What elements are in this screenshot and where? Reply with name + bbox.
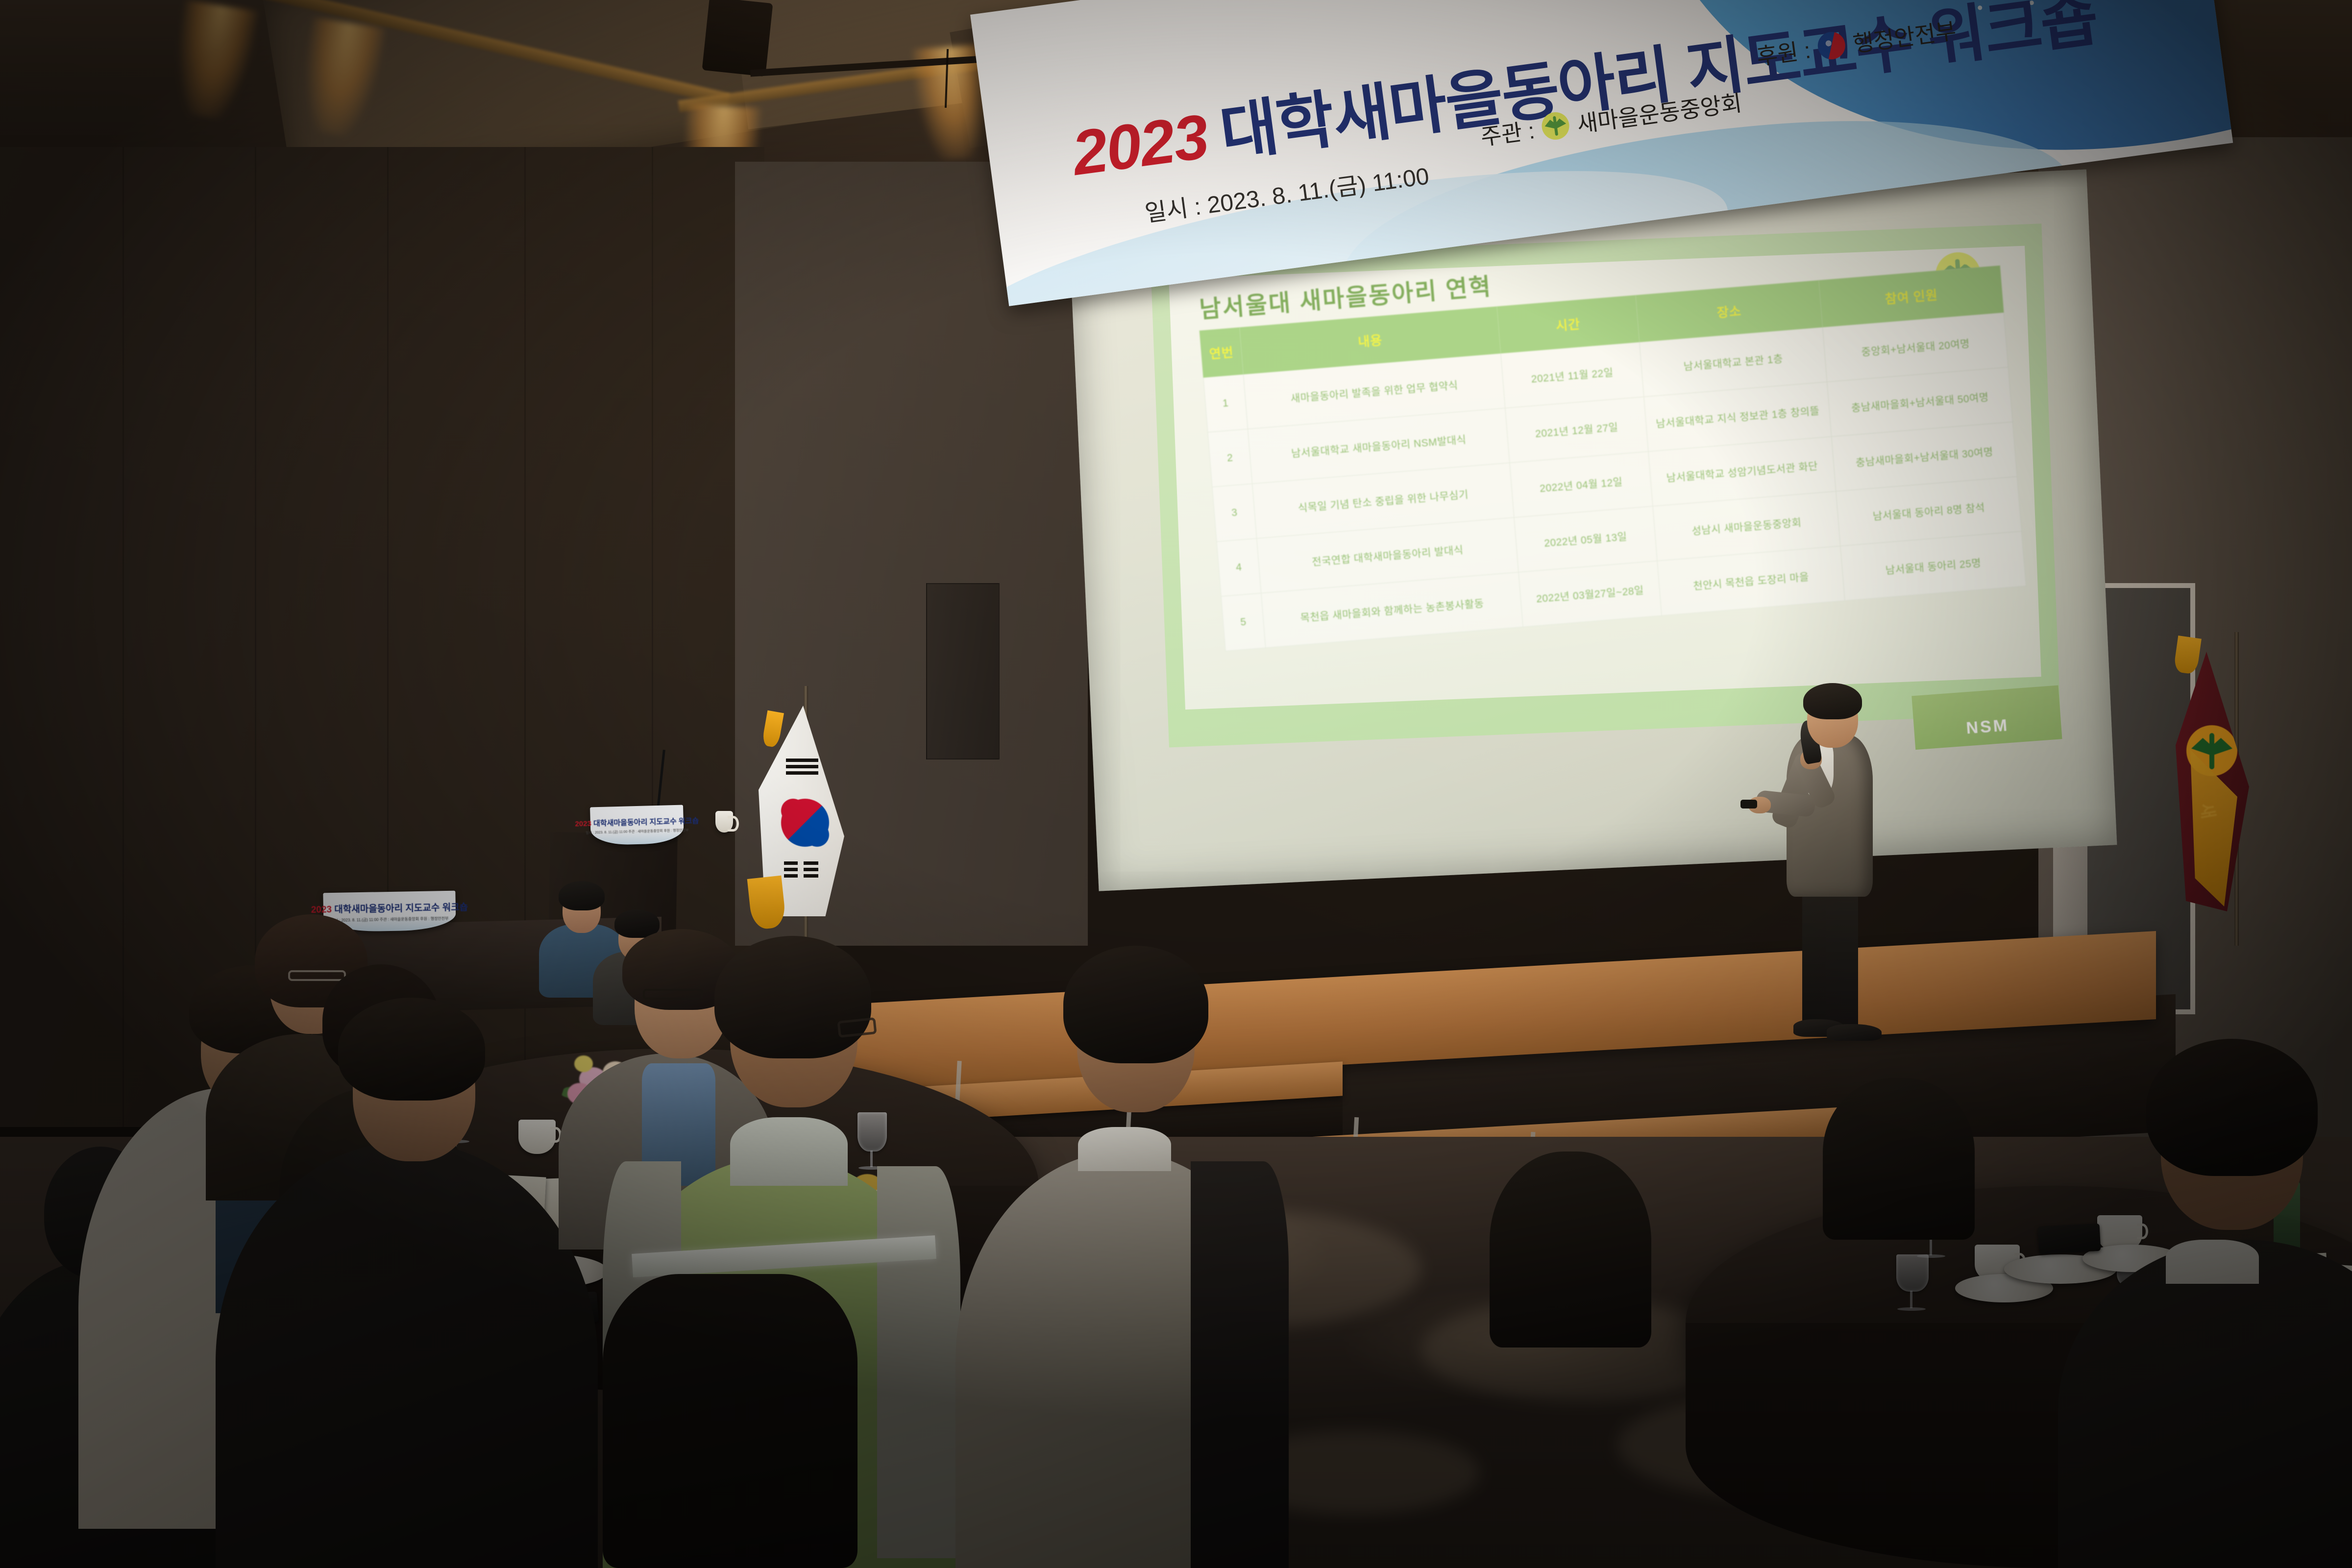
slide-footer-label: NSM — [1965, 716, 2009, 738]
slide-content-area: 남서울대 새마을동아리 연혁 연번 내용 시간 장소 참여 인원 — [1169, 246, 2041, 710]
slide-footer-mark: NSM — [1911, 685, 2062, 750]
trigram-geon — [786, 759, 818, 778]
presentation-clicker[interactable] — [1740, 800, 1757, 808]
presenter-leg — [1826, 887, 1858, 1034]
banquet-chair[interactable] — [603, 1274, 857, 1568]
dark-suit — [2058, 1240, 2352, 1568]
audience-hair — [2146, 1039, 2318, 1176]
taegeuk-symbol — [781, 799, 829, 847]
suit-shadow-side — [1191, 1161, 1289, 1568]
screen-surface: 남서울대 새마을동아리 연혁 연번 내용 시간 장소 참여 인원 — [1068, 170, 2117, 891]
paper-cup — [715, 811, 733, 833]
presenter — [1744, 676, 1891, 1049]
banner-host-label: 주관 : — [1479, 113, 1537, 152]
dress-shirt-collar — [1078, 1127, 1171, 1171]
audience-member-grey-suit — [946, 946, 1298, 1568]
ceiling-downlight — [168, 0, 258, 122]
column-header-no: 연번 — [1200, 327, 1244, 377]
projection-screen: 남서울대 새마을동아리 연혁 연번 내용 시간 장소 참여 인원 — [1068, 170, 2117, 901]
cell-no: 5 — [1221, 593, 1266, 651]
cell-no: 3 — [1212, 484, 1257, 541]
cell-no: 2 — [1208, 429, 1252, 487]
audience-hair — [1063, 946, 1208, 1063]
presenter-shoe — [1827, 1024, 1882, 1041]
dress-shirt-collar — [2166, 1240, 2259, 1284]
water-glass — [1896, 1254, 1929, 1292]
ceiling-speaker — [702, 0, 773, 76]
cell-time: 2022년 03월27일~28일 — [1519, 561, 1662, 627]
history-table: 연번 내용 시간 장소 참여 인원 1 새마을동아리 발족을 위한 업무 협약식 — [1199, 265, 2026, 651]
trigram-gon-right — [804, 861, 818, 881]
podium-sign-title: 2023 대학새마을동아리 지도교수 워크숍 — [575, 815, 699, 829]
banquet-chair[interactable] — [1823, 1078, 1975, 1240]
podium-sign-subline: 일시 : 2023. 8. 11.(금) 11:00 주관 : 새마을운동중앙회… — [586, 828, 688, 835]
collar — [730, 1117, 848, 1186]
audience-hair — [714, 936, 871, 1058]
audience-hair — [338, 998, 485, 1101]
audience-member-dark-suit-right — [2058, 1029, 2352, 1568]
cell-no: 4 — [1217, 539, 1261, 596]
eyeglasses — [837, 1017, 877, 1038]
presenter-hair — [1803, 683, 1862, 719]
wall-access-panel — [926, 583, 1000, 759]
banquet-hall-scene: 남서울대 새마을동아리 연혁 연번 내용 시간 장소 참여 인원 — [0, 0, 2352, 1568]
audience-member-dark-suit-left — [216, 980, 598, 1568]
podium-sign: 2023 대학새마을동아리 지도교수 워크숍 일시 : 2023. 8. 11.… — [590, 805, 684, 846]
saemaul-sprout-icon — [1540, 111, 1571, 142]
cell-no: 1 — [1203, 374, 1248, 432]
banquet-chair[interactable] — [1490, 1151, 1651, 1347]
audience-hair — [559, 881, 605, 910]
dark-suit — [216, 1142, 598, 1568]
banner-year: 2023 — [1068, 101, 1212, 189]
korea-government-emblem-icon — [1816, 30, 1847, 61]
projected-slide: 남서울대 새마을동아리 연혁 연번 내용 시간 장소 참여 인원 — [1151, 223, 2060, 747]
